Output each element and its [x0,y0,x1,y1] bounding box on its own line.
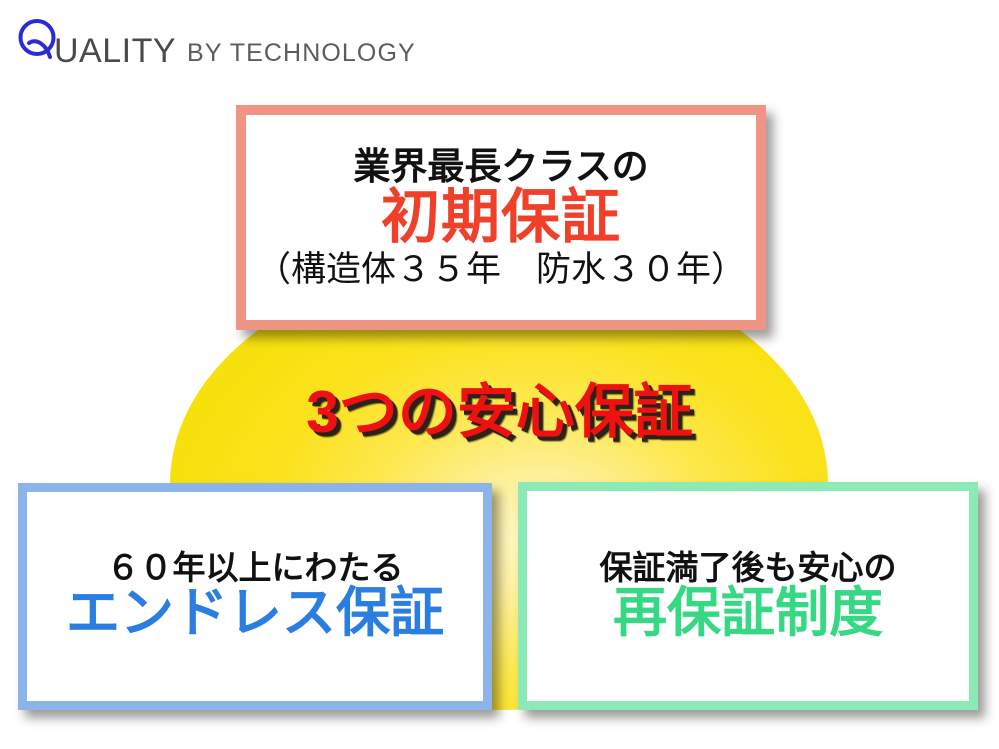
guarantee-card-initial-lead: 業界最長クラスの [246,148,756,185]
guarantee-card-rewarranty-content: 保証満了後も安心の 再保証制度 [527,551,969,642]
guarantee-card-endless: ６０年以上にわたる エンドレス保証 [18,483,492,710]
guarantee-card-endless-lead: ６０年以上にわたる [27,551,483,584]
guarantee-card-initial-emphasis: 初期保証 [246,187,756,247]
guarantee-card-initial-sub: （構造体３５年 防水３０年） [246,252,756,287]
logo-word-quality: UALITY [54,32,176,71]
guarantee-card-initial: 業界最長クラスの 初期保証 （構造体３５年 防水３０年） [236,105,766,330]
brand-logo: UALITY BY TECHNOLOGY [16,17,416,70]
guarantee-card-rewarranty-lead: 保証満了後も安心の [527,551,969,584]
guarantee-card-initial-content: 業界最長クラスの 初期保証 （構造体３５年 防水３０年） [246,148,756,286]
guarantee-card-endless-content: ６０年以上にわたる エンドレス保証 [27,551,483,642]
page-title: 3つの安心保証 [0,364,999,449]
guarantee-card-endless-emphasis: エンドレス保証 [27,585,483,642]
guarantee-card-rewarranty-emphasis: 再保証制度 [527,585,969,642]
slide-canvas: UALITY BY TECHNOLOGY 業界最長クラスの 初期保証 （構造体３… [0,0,999,749]
logo-word-by-technology: BY TECHNOLOGY [187,39,416,68]
guarantee-card-rewarranty: 保証満了後も安心の 再保証制度 [518,482,978,710]
